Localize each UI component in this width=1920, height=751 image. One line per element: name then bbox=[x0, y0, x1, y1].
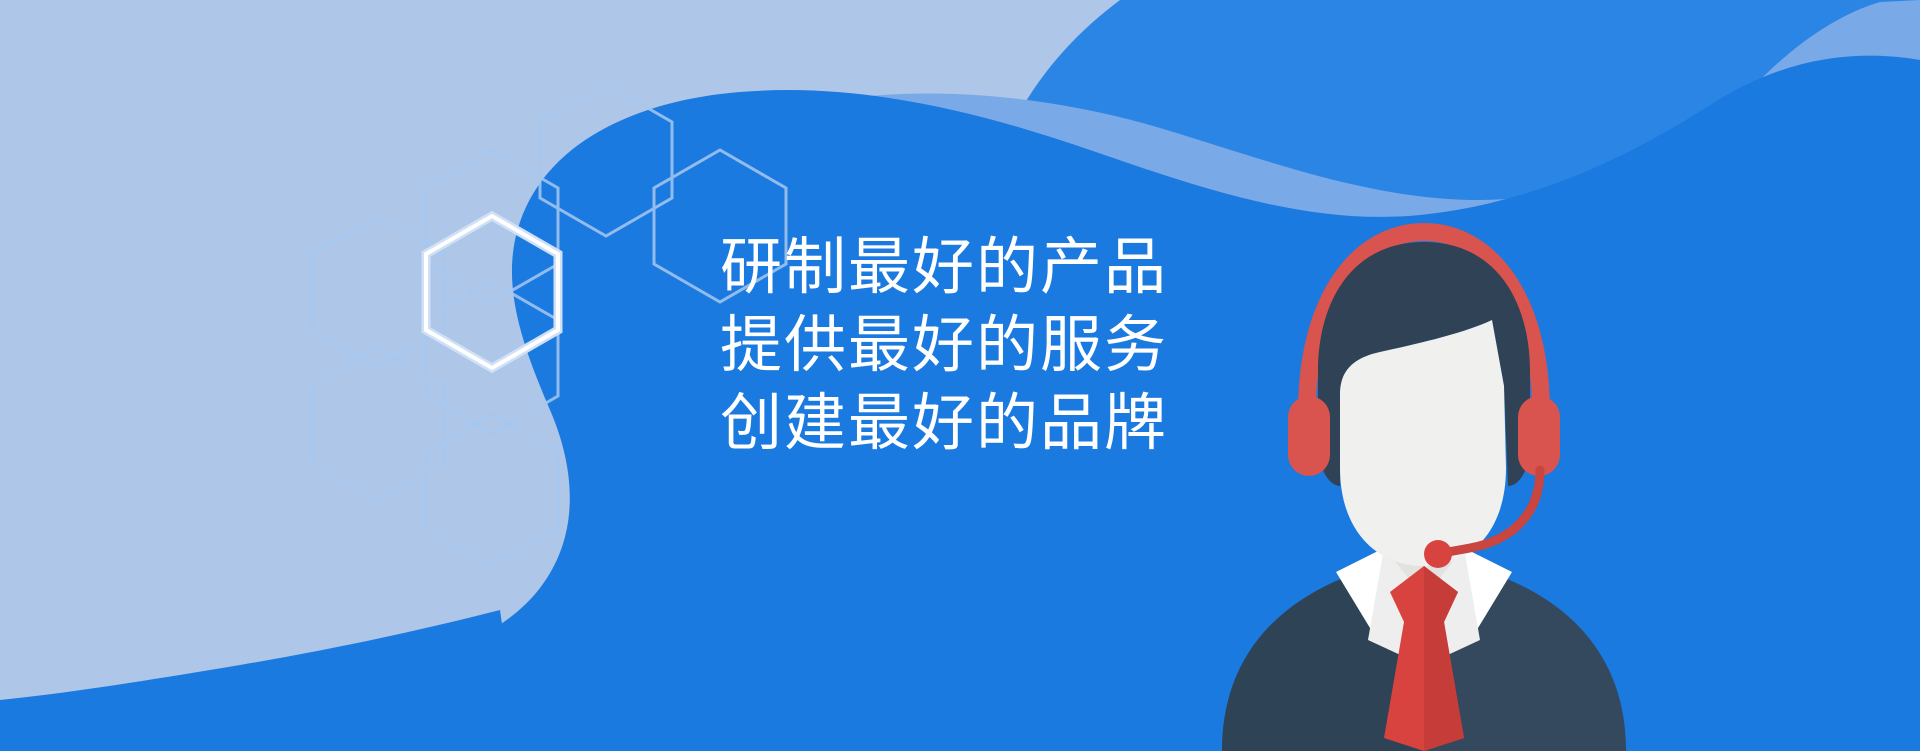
headset-earcup-right bbox=[1518, 396, 1560, 476]
microphone-tip bbox=[1424, 540, 1452, 568]
hexagon-1 bbox=[426, 150, 558, 302]
hexagon-honeycomb bbox=[312, 84, 786, 566]
banner-root: 研制最好的产品 提供最好的服务 创建最好的品牌 bbox=[0, 0, 1920, 751]
hexagon-7 bbox=[426, 414, 558, 566]
headset-earcup-left bbox=[1288, 396, 1330, 476]
headline-line-2: 提供最好的服务 bbox=[720, 306, 1168, 384]
hexagon-2 bbox=[540, 84, 672, 236]
hexagon-highlight-outer bbox=[426, 216, 558, 368]
headline-block: 研制最好的产品 提供最好的服务 创建最好的品牌 bbox=[720, 228, 1280, 462]
hexagon-highlighted bbox=[426, 216, 558, 368]
headline-line-3: 创建最好的品牌 bbox=[720, 384, 1168, 462]
headline-line-1: 研制最好的产品 bbox=[720, 228, 1168, 306]
face bbox=[1340, 320, 1506, 566]
customer-service-agent bbox=[1222, 232, 1626, 751]
hexagon-5 bbox=[426, 282, 558, 434]
hexagon-6 bbox=[312, 348, 444, 500]
